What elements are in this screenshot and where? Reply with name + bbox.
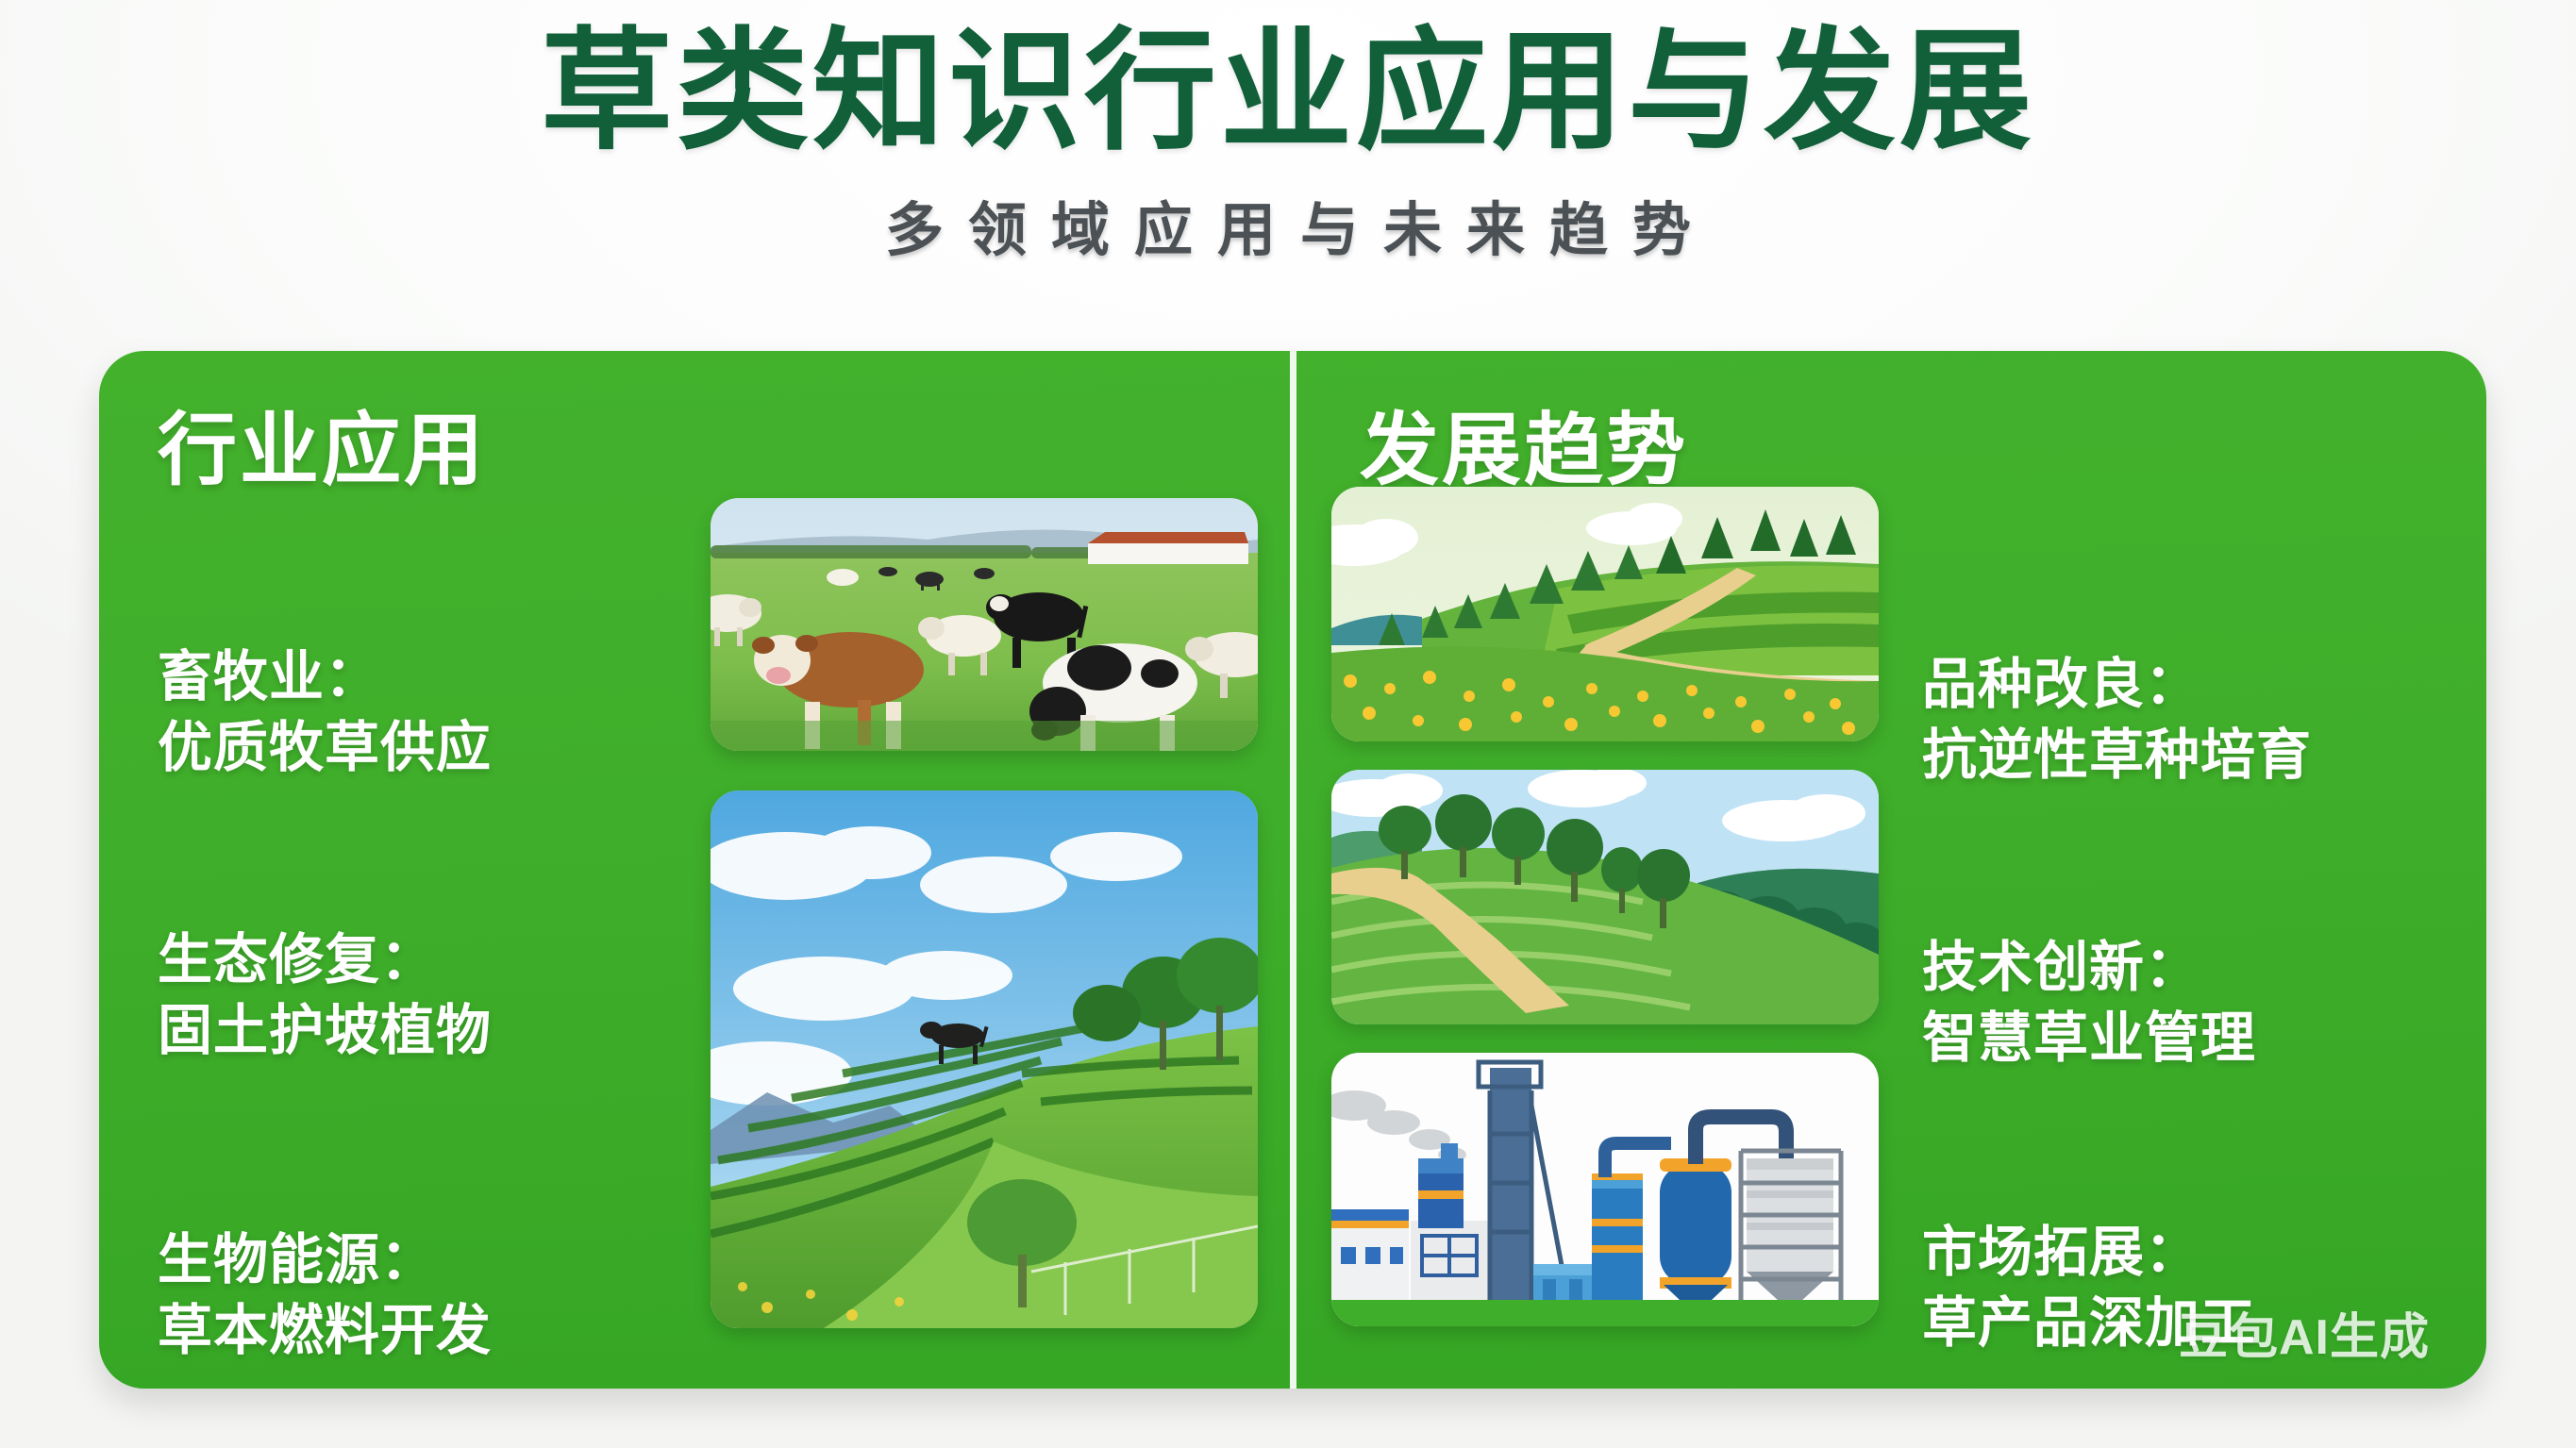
list-item-category: 品种改良：: [1922, 649, 2312, 720]
panel-industry-applications: 行业应用 畜牧业： 优质牧草供应 生态修复： 固土护坡植物: [99, 351, 1290, 1389]
list-item-category: 生物能源：: [158, 1224, 611, 1295]
panel-right-images: [1331, 487, 1879, 1389]
panel-right-heading: 发展趋势: [1360, 387, 1688, 501]
list-item[interactable]: 技术创新： 智慧草业管理: [1913, 932, 2479, 1074]
panel-right-items: 品种改良： 抗逆性草种培育 技术创新： 智慧草业管理 市场拓展： 草产品深加工: [1913, 498, 2479, 1375]
list-item-text: 生物能源： 草本燃料开发: [158, 1224, 611, 1367]
header: 草类知识行业应用与发展 多领域应用与未来趋势: [0, 0, 2576, 267]
list-item[interactable]: 生物能源： 草本燃料开发: [99, 1224, 684, 1367]
list-item-text: 畜牧业： 优质牧草供应: [158, 641, 611, 784]
panel-left-heading: 行业应用: [158, 387, 486, 501]
list-item-description: 优质牧草供应: [158, 712, 611, 783]
list-item-category: 技术创新：: [1922, 932, 2256, 1003]
list-item-description: 智慧草业管理: [1922, 1003, 2256, 1074]
list-item-description: 草本燃料开发: [158, 1295, 611, 1366]
list-item-description: 固土护坡植物: [158, 995, 611, 1066]
page-subtitle: 多领域应用与未来趋势: [0, 182, 2576, 267]
image-grazing-pasture: [711, 498, 1258, 751]
image-processing-plant: [1331, 1053, 1879, 1326]
list-item-category: 生态修复：: [158, 924, 611, 995]
panel-left-images: [711, 498, 1258, 1385]
list-item-text: 品种改良： 抗逆性草种培育: [1922, 649, 2312, 791]
page-title: 草类知识行业应用与发展: [0, 13, 2576, 169]
list-item-category: 市场拓展：: [1922, 1217, 2256, 1288]
poster-root: 草类知识行业应用与发展 多领域应用与未来趋势 行业应用 畜牧业： 优质牧草供应 …: [0, 0, 2576, 1448]
list-item[interactable]: 品种改良： 抗逆性草种培育: [1913, 649, 2479, 791]
list-item-description: 草产品深加工: [1922, 1288, 2256, 1358]
list-item[interactable]: 畜牧业： 优质牧草供应: [99, 641, 684, 784]
image-flower-fields: [1331, 487, 1879, 741]
list-item-text: 市场拓展： 草产品深加工: [1922, 1217, 2256, 1359]
panel-development-trends: 发展趋势: [1290, 351, 2486, 1389]
list-item-text: 技术创新： 智慧草业管理: [1922, 932, 2256, 1074]
list-item-category: 畜牧业：: [158, 641, 611, 712]
list-item[interactable]: 生态修复： 固土护坡植物: [99, 924, 684, 1067]
content-board: 行业应用 畜牧业： 优质牧草供应 生态修复： 固土护坡植物: [99, 351, 2486, 1389]
list-item[interactable]: 市场拓展： 草产品深加工: [1913, 1217, 2479, 1359]
image-rolling-hills: [1331, 770, 1879, 1024]
list-item-description: 抗逆性草种培育: [1922, 720, 2312, 791]
image-terraced-hillside: [711, 791, 1258, 1328]
list-item-text: 生态修复： 固土护坡植物: [158, 924, 611, 1067]
